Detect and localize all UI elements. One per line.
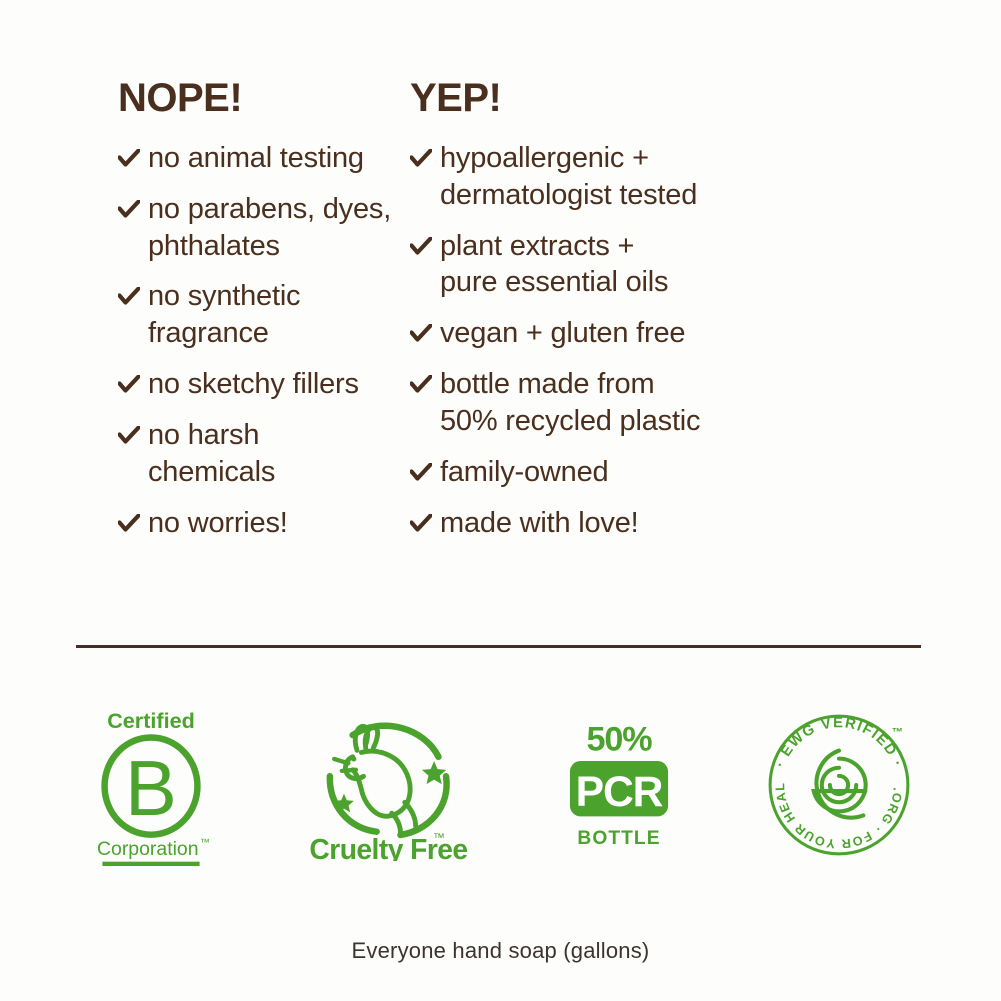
check-icon <box>118 366 144 396</box>
list-item: plant extracts + pure essential oils <box>410 228 955 302</box>
check-icon <box>410 454 436 484</box>
badge-ewg-verified: · EWG VERIFIED · EWG.ORG · FOR YOUR HEAL… <box>756 705 921 865</box>
list-item: no harsh chemicals <box>118 417 395 491</box>
check-icon <box>118 191 144 221</box>
certification-badges: Certified B Corporation ™ <box>76 700 921 870</box>
list-item: bottle made from 50% recycled plastic <box>410 366 955 440</box>
section-divider <box>76 645 921 648</box>
badge-cruelty-free: ™ Cruelty Free <box>296 705 481 865</box>
check-icon <box>410 315 436 345</box>
claim-text: no sketchy fillers <box>148 366 359 403</box>
leaping-bunny-icon: ™ Cruelty Free <box>296 709 481 861</box>
claims-column-yep: YEP! hypoallergenic + dermatologist test… <box>395 78 955 541</box>
check-icon <box>118 278 144 308</box>
list-item: no synthetic fragrance <box>118 278 395 352</box>
check-icon <box>410 140 436 170</box>
claim-text: no parabens, dyes, phthalates <box>148 191 391 265</box>
svg-text:B: B <box>125 746 177 832</box>
claim-text: bottle made from 50% recycled plastic <box>440 366 700 440</box>
svg-text:50%: 50% <box>586 720 652 758</box>
list-item: no worries! <box>118 505 395 542</box>
claims-columns: NOPE! no animal testing no parabens, dye… <box>0 78 1001 541</box>
claim-text: vegan + gluten free <box>440 315 685 352</box>
check-icon <box>118 505 144 535</box>
claims-list-nope: no animal testing no parabens, dyes, pht… <box>118 140 395 541</box>
svg-text:Cruelty Free: Cruelty Free <box>309 833 467 861</box>
claim-text: no worries! <box>148 505 288 542</box>
check-icon <box>118 140 144 170</box>
list-item: family-owned <box>410 454 955 491</box>
list-item: no animal testing <box>118 140 395 177</box>
column-heading-yep: YEP! <box>410 78 955 118</box>
b-corp-top-label: Certified <box>107 708 195 733</box>
claim-text: hypoallergenic + dermatologist tested <box>440 140 697 214</box>
list-item: vegan + gluten free <box>410 315 955 352</box>
claim-text: no harsh chemicals <box>148 417 275 491</box>
claim-text: no synthetic fragrance <box>148 278 300 352</box>
claim-text: family-owned <box>440 454 608 491</box>
claim-text: made with love! <box>440 505 639 542</box>
list-item: no parabens, dyes, phthalates <box>118 191 395 265</box>
column-heading-nope: NOPE! <box>118 78 395 118</box>
svg-text:BOTTLE: BOTTLE <box>577 828 660 849</box>
badge-pcr-bottle: 50% PCR BOTTLE <box>551 705 686 865</box>
claim-text: no animal testing <box>148 140 364 177</box>
check-icon <box>410 228 436 258</box>
b-corporation-icon: Certified B Corporation ™ <box>86 704 216 866</box>
svg-text:Corporation: Corporation <box>97 838 199 860</box>
svg-text:™: ™ <box>891 726 902 738</box>
check-icon <box>410 505 436 535</box>
claims-column-nope: NOPE! no animal testing no parabens, dye… <box>0 78 395 541</box>
svg-text:PCR: PCR <box>575 767 662 815</box>
list-item: no sketchy fillers <box>118 366 395 403</box>
badge-b-corporation: Certified B Corporation ™ <box>76 705 226 865</box>
product-claims-infographic: NOPE! no animal testing no parabens, dye… <box>0 0 1001 1001</box>
list-item: made with love! <box>410 505 955 542</box>
svg-text:· EWG VERIFIED ·: · EWG VERIFIED · <box>772 715 905 770</box>
check-icon <box>118 417 144 447</box>
ewg-verified-icon: · EWG VERIFIED · EWG.ORG · FOR YOUR HEAL… <box>763 709 915 861</box>
pcr-bottle-icon: 50% PCR BOTTLE <box>555 716 683 855</box>
check-icon <box>410 366 436 396</box>
claim-text: plant extracts + pure essential oils <box>440 228 668 302</box>
svg-text:™: ™ <box>200 837 210 848</box>
image-caption: Everyone hand soap (gallons) <box>0 938 1001 964</box>
list-item: hypoallergenic + dermatologist tested <box>410 140 955 214</box>
claims-list-yep: hypoallergenic + dermatologist tested pl… <box>410 140 955 541</box>
